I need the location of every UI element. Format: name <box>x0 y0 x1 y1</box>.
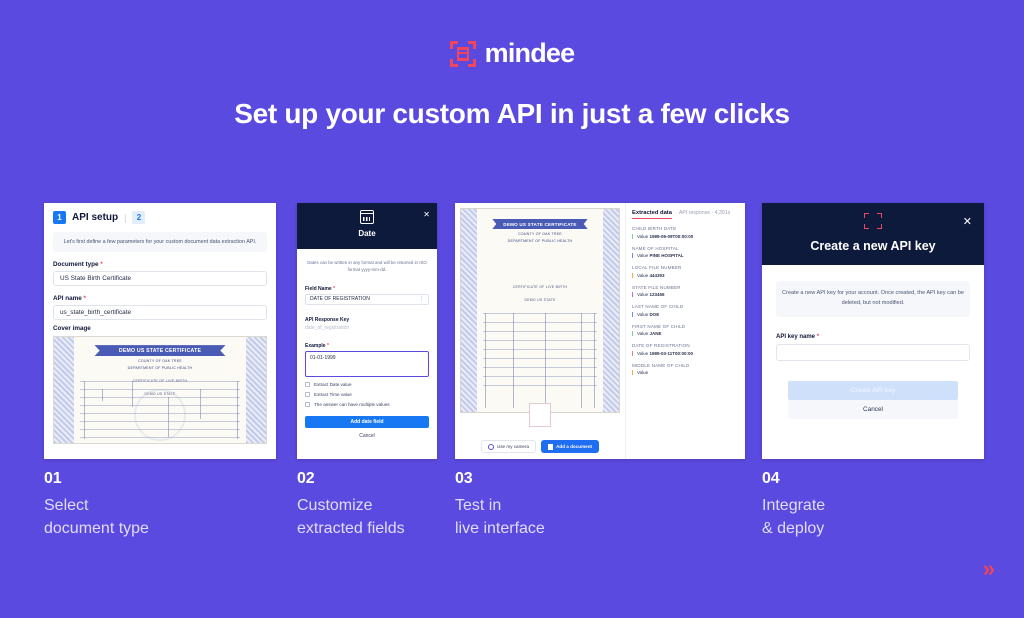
certificate-border-left <box>54 337 74 443</box>
extracted-field: FIRST NAME OF CHILDValue JANE <box>632 324 739 337</box>
required-asterisk: * <box>326 343 329 349</box>
card-api-setup: 1 API setup | 2 Let's first define a few… <box>44 203 276 459</box>
step-4: 04 Integrate & deploy <box>762 470 825 540</box>
checkbox-label: Extract Time value <box>314 392 352 397</box>
mindee-mark-icon <box>864 213 882 229</box>
step-2: 02 Customize extracted fields <box>297 470 405 540</box>
required-asterisk: * <box>82 295 86 302</box>
step-number: 02 <box>297 470 405 488</box>
extracted-field: CHILD BIRTH DATEValue 1989-06-09T00:00:0… <box>632 226 739 239</box>
checkbox-extract-date[interactable]: Extract Date value <box>305 382 429 387</box>
document-actions: Use my camera Add a document <box>460 440 620 453</box>
extracted-field-label: LOCAL FILE NUMBER <box>632 265 739 270</box>
use-camera-button[interactable]: Use my camera <box>481 440 536 453</box>
api-key-name-label: API key name * <box>776 334 970 340</box>
checkbox-multiple-values[interactable]: The answer can have multiple values <box>305 402 429 407</box>
required-asterisk: * <box>332 286 335 292</box>
field-name-label: Field Name * <box>305 286 429 292</box>
close-icon[interactable]: ✕ <box>423 211 430 219</box>
card-live-interface: DEMO US STATE CERTIFICATE COUNTY OF OAK … <box>455 203 745 459</box>
step-badge-1[interactable]: 1 <box>53 211 66 224</box>
document-county: COUNTY OF OAK TREE <box>479 232 601 236</box>
document-state: DEMO US STATE <box>479 298 601 302</box>
step-number: 03 <box>455 470 545 488</box>
card1-title: API setup <box>72 212 118 223</box>
extracted-field: NAME OF HOSPITALValue PINE HOSPITAL <box>632 246 739 259</box>
certificate-body: DEMO US STATE CERTIFICATE COUNTY OF OAK … <box>76 337 244 443</box>
certificate-table <box>80 381 240 439</box>
certificate-county: COUNTY OF OAK TREE <box>76 359 244 363</box>
cancel-button[interactable]: Cancel <box>297 433 437 439</box>
extracted-data-panel: Extracted data API response - 4,391s CHI… <box>625 203 745 459</box>
cover-certificate-preview: DEMO US STATE CERTIFICATE COUNTY OF OAK … <box>53 336 267 444</box>
extracted-field-value[interactable]: Value 1989-06-09T00:00:00 <box>632 234 739 239</box>
checkbox-icon <box>305 382 310 387</box>
example-textarea[interactable]: 01-01-1999 <box>305 351 429 377</box>
step-number: 04 <box>762 470 825 488</box>
cancel-button[interactable]: Cancel <box>788 400 958 419</box>
document-type-label: Document type * <box>53 261 267 268</box>
document-icon <box>548 444 553 450</box>
card-date-field-modal: Date ✕ Dates can be written in any forma… <box>297 203 437 459</box>
document-type-label-text: Document type <box>53 261 98 268</box>
card4-header: Create a new API key ✕ <box>762 203 984 265</box>
checkbox-icon <box>305 392 310 397</box>
api-key-name-input[interactable] <box>776 344 970 361</box>
certificate-ribbon: DEMO US STATE CERTIFICATE <box>94 345 225 356</box>
extracted-field-label: DATE OF REGISTRATION <box>632 343 739 348</box>
document-type-input[interactable]: US State Birth Certificate <box>53 271 267 286</box>
page-title: Set up your custom API in just a few cli… <box>0 98 1024 130</box>
add-document-label: Add a document <box>556 444 592 449</box>
checkbox-label: The answer can have multiple values <box>314 402 390 407</box>
document-preview[interactable]: DEMO US STATE CERTIFICATE COUNTY OF OAK … <box>460 208 620 413</box>
field-name-label-text: Field Name <box>305 286 332 292</box>
document-border-left <box>461 209 477 412</box>
api-name-label-text: API name <box>53 295 82 302</box>
field-name-input[interactable]: DATE OF REGISTRATION ⋮ <box>305 294 429 305</box>
panel-tabs: Extracted data API response - 4,391s <box>632 210 739 219</box>
chevron-down-icon: ⋮ <box>419 296 424 302</box>
step-badge-2[interactable]: 2 <box>132 211 145 224</box>
step-text: Customize extracted fields <box>297 494 405 540</box>
cards-row: 1 API setup | 2 Let's first define a few… <box>44 203 984 459</box>
extracted-field-value[interactable]: Value 444393 <box>632 273 739 278</box>
step-text: Integrate & deploy <box>762 494 825 540</box>
extracted-field-value[interactable]: Value PINE HOSPITAL <box>632 253 739 258</box>
page-thumbnail[interactable] <box>529 403 551 427</box>
field-name-value: DATE OF REGISTRATION <box>310 296 370 302</box>
tab-extracted-data[interactable]: Extracted data <box>632 210 672 219</box>
extracted-field-label: CHILD BIRTH DATE <box>632 226 739 231</box>
example-label: Example * <box>305 343 429 349</box>
card1-note: Let's first define a few parameters for … <box>53 232 267 252</box>
certificate-department: DEPARTMENT OF PUBLIC HEALTH <box>76 366 244 370</box>
mindee-mark-icon <box>450 41 476 67</box>
double-chevron-icon: » <box>983 556 992 582</box>
calendar-icon <box>360 210 374 224</box>
card4-title: Create a new API key <box>762 239 984 253</box>
document-heading: CERTIFICATE OF LIVE BIRTH <box>479 285 601 289</box>
card4-actions: Create API key Cancel <box>788 381 958 419</box>
use-camera-label: Use my camera <box>497 444 529 449</box>
extracted-field-value[interactable]: Value <box>632 370 739 375</box>
extracted-field-label: FIRST NAME OF CHILD <box>632 324 739 329</box>
checkbox-label: Extract Date value <box>314 382 352 387</box>
api-name-label: API name * <box>53 295 267 302</box>
api-response-key-placeholder[interactable]: date_of_registration <box>305 325 429 331</box>
card2-header: Date ✕ <box>297 203 437 249</box>
document-table <box>483 313 597 408</box>
extracted-field-label: STATE FILE NUMBER <box>632 285 739 290</box>
example-label-text: Example <box>305 343 326 349</box>
checkbox-icon <box>305 402 310 407</box>
extracted-field-label: MIDDLE NAME OF CHILD <box>632 363 739 368</box>
camera-icon <box>488 444 494 450</box>
document-viewer: DEMO US STATE CERTIFICATE COUNTY OF OAK … <box>455 203 625 459</box>
add-document-button[interactable]: Add a document <box>541 440 599 453</box>
card3-layout: DEMO US STATE CERTIFICATE COUNTY OF OAK … <box>455 203 745 459</box>
extracted-field: MIDDLE NAME OF CHILDValue <box>632 363 739 376</box>
create-api-key-button[interactable]: Create API key <box>788 381 958 400</box>
checkbox-extract-time[interactable]: Extract Time value <box>305 392 429 397</box>
card2-title: Date <box>297 229 437 238</box>
extracted-field: DATE OF REGISTRATIONValue 1989-03-11T00:… <box>632 343 739 356</box>
card1-header: 1 API setup | 2 <box>44 203 276 230</box>
step-3: 03 Test in live interface <box>455 470 545 540</box>
extracted-field-label: LAST NAME OF CHILD <box>632 304 739 309</box>
document-body: DEMO US STATE CERTIFICATE COUNTY OF OAK … <box>479 209 601 412</box>
extracted-field-value[interactable]: Value JANE <box>632 331 739 336</box>
extracted-field: LOCAL FILE NUMBERValue 444393 <box>632 265 739 278</box>
extracted-field: STATE FILE NUMBERValue 123456 <box>632 285 739 298</box>
slide-root: mindee Set up your custom API in just a … <box>0 0 1024 618</box>
certificate-border-right <box>246 337 266 443</box>
close-icon[interactable]: ✕ <box>963 217 972 228</box>
api-key-name-label-text: API key name <box>776 334 815 340</box>
card2-note: Dates can be written in any format and w… <box>305 259 429 274</box>
extracted-field-value[interactable]: Value DOE <box>632 312 739 317</box>
extracted-field: LAST NAME OF CHILDValue DOE <box>632 304 739 317</box>
extracted-fields-list: CHILD BIRTH DATEValue 1989-06-09T00:00:0… <box>632 226 739 375</box>
extracted-field-label: NAME OF HOSPITAL <box>632 246 739 251</box>
tab-api-response[interactable]: API response - 4,391s <box>679 210 730 216</box>
brand-name: mindee <box>485 38 575 69</box>
step-number: 01 <box>44 470 149 488</box>
api-name-input[interactable]: us_state_birth_certificate <box>53 305 267 320</box>
document-border-right <box>603 209 619 412</box>
step-1: 01 Select document type <box>44 470 149 540</box>
cover-image-label: Cover image <box>53 325 267 332</box>
brand-logo: mindee <box>0 38 1024 69</box>
document-department: DEPARTMENT OF PUBLIC HEALTH <box>479 239 601 243</box>
document-ribbon: DEMO US STATE CERTIFICATE <box>492 219 587 229</box>
extracted-field-value[interactable]: Value 1989-03-11T00:00:00 <box>632 351 739 356</box>
api-response-key-label: API Response Key <box>305 317 429 323</box>
step-text: Test in live interface <box>455 494 545 540</box>
required-asterisk: * <box>815 334 819 340</box>
extracted-field-value[interactable]: Value 123456 <box>632 292 739 297</box>
card1-separator: | <box>124 213 126 223</box>
step-text: Select document type <box>44 494 149 540</box>
add-date-field-button[interactable]: Add date field <box>305 416 429 428</box>
card4-note: Create a new API key for your account. O… <box>776 281 970 317</box>
card-api-key-modal: Create a new API key ✕ Create a new API … <box>762 203 984 459</box>
required-asterisk: * <box>98 261 102 268</box>
